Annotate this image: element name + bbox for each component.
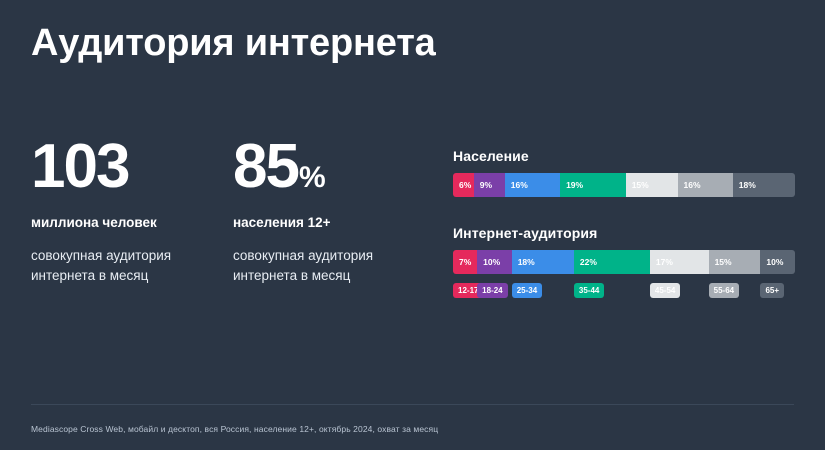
legend-item-55-64: 55-64 bbox=[709, 283, 739, 298]
legend-item-25-34: 25-34 bbox=[512, 283, 542, 298]
bar-segment-25-34: 18% bbox=[512, 250, 574, 274]
bar-segment-12-17: 7% bbox=[453, 250, 477, 274]
footer-divider bbox=[31, 404, 794, 405]
stat-block-penetration: 85 % населения 12+ совокупная аудитория … bbox=[233, 136, 435, 285]
slide-root: Аудитория интернета 103 миллиона человек… bbox=[0, 0, 825, 450]
bar-segment-55-64: 16% bbox=[678, 173, 733, 197]
stat-value: 85 % bbox=[233, 136, 435, 198]
legend-item-65+: 65+ bbox=[760, 283, 784, 298]
stat-value-number: 85 bbox=[233, 136, 298, 198]
chart-population: Население 6%9%16%19%15%16%18% bbox=[453, 148, 795, 197]
page-title: Аудитория интернета bbox=[31, 22, 436, 66]
bar-segment-25-34: 16% bbox=[505, 173, 560, 197]
stat-block-audience: 103 миллиона человек совокупная аудитори… bbox=[31, 136, 233, 285]
charts-group: Население 6%9%16%19%15%16%18% Интернет-а… bbox=[453, 148, 795, 298]
stat-description: совокупная аудитория интернета в месяц bbox=[233, 246, 413, 285]
stat-label: населения 12+ bbox=[233, 215, 435, 230]
chart-internet-audience: Интернет-аудитория 7%10%18%22%17%15%10% … bbox=[453, 225, 795, 298]
legend-item-18-24: 18-24 bbox=[477, 283, 507, 298]
bar-segment-45-54: 15% bbox=[626, 173, 678, 197]
stacked-bar-population: 6%9%16%19%15%16%18% bbox=[453, 173, 795, 197]
bar-segment-55-64: 15% bbox=[709, 250, 761, 274]
stat-value: 103 bbox=[31, 136, 233, 198]
stat-description: совокупная аудитория интернета в месяц bbox=[31, 246, 211, 285]
bar-segment-18-24: 9% bbox=[474, 173, 505, 197]
legend-item-45-54: 45-54 bbox=[650, 283, 680, 298]
bar-segment-35-44: 19% bbox=[560, 173, 626, 197]
bar-segment-65+: 18% bbox=[733, 173, 795, 197]
stat-value-suffix: % bbox=[299, 163, 325, 193]
bar-segment-18-24: 10% bbox=[477, 250, 512, 274]
stats-group: 103 миллиона человек совокупная аудитори… bbox=[31, 136, 435, 285]
footer-source-note: Mediascope Cross Web, мобайл и десктоп, … bbox=[31, 424, 438, 434]
chart-title-population: Население bbox=[453, 148, 795, 164]
bar-segment-45-54: 17% bbox=[650, 250, 709, 274]
legend-item-35-44: 35-44 bbox=[574, 283, 604, 298]
stat-value-number: 103 bbox=[31, 136, 128, 198]
stacked-bar-internet-audience: 7%10%18%22%17%15%10% bbox=[453, 250, 795, 274]
chart-title-internet-audience: Интернет-аудитория bbox=[453, 225, 795, 241]
stat-label: миллиона человек bbox=[31, 215, 233, 230]
age-legend: 12-1718-2425-3435-4445-5455-6465+ bbox=[453, 283, 795, 298]
bar-segment-65+: 10% bbox=[760, 250, 795, 274]
bar-segment-35-44: 22% bbox=[574, 250, 650, 274]
bar-segment-12-17: 6% bbox=[453, 173, 474, 197]
